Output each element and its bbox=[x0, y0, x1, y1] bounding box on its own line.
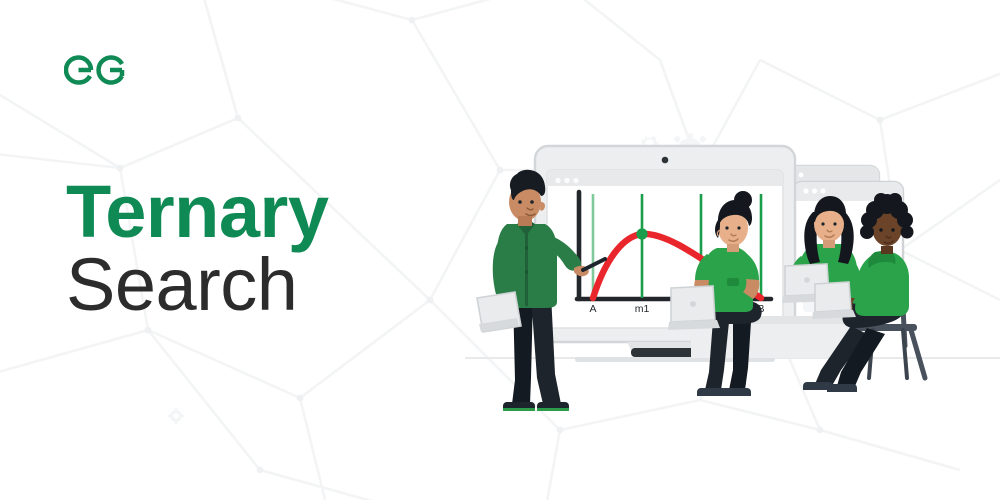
screen-window-dots bbox=[555, 178, 578, 183]
classroom-presentation-illustration: f(x) A m1 m2 B JS js bbox=[455, 120, 1000, 420]
chart-max-point bbox=[636, 228, 647, 239]
page-title: Ternary Search bbox=[66, 176, 328, 320]
banner-root: Ternary Search bbox=[0, 0, 1000, 500]
page-title-line-1: Ternary bbox=[66, 176, 328, 247]
chart-tick-label-m1: m1 bbox=[635, 303, 650, 315]
chart-tick-label-a: A bbox=[589, 303, 596, 315]
seated-woman-laptop bbox=[668, 286, 720, 330]
monitor-camera-dot bbox=[662, 157, 669, 164]
seated-man-laptop bbox=[812, 282, 856, 319]
hair-bun bbox=[734, 191, 752, 209]
presenter-laptop bbox=[477, 292, 521, 332]
page-title-line-2: Search bbox=[66, 249, 328, 320]
geeksforgeeks-logo[interactable] bbox=[64, 47, 136, 93]
